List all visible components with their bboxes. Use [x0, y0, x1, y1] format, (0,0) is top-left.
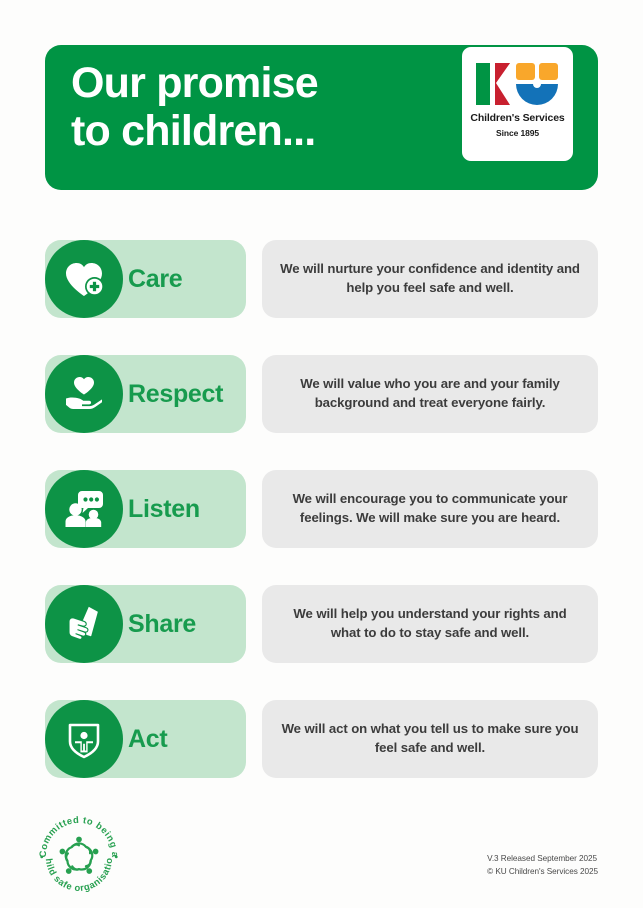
promise-description-text: We will help you understand your rights …: [280, 605, 580, 642]
promise-pill-care: Care: [45, 240, 246, 318]
promise-description-act: We will act on what you tell us to make …: [262, 700, 598, 778]
shield-person-icon: [45, 700, 123, 778]
badge-text-top: Committed to being a: [38, 815, 120, 858]
promise-description-text: We will value who you are and your famil…: [280, 375, 580, 412]
promise-list: Care We will nurture your confidence and…: [45, 240, 598, 815]
promise-description-share: We will help you understand your rights …: [262, 585, 598, 663]
promise-row-listen: Listen We will encourage you to communic…: [45, 470, 598, 548]
promise-description-text: We will encourage you to communicate you…: [280, 490, 580, 527]
people-speech-bubble-icon: [45, 470, 123, 548]
promise-label-share: Share: [128, 585, 196, 663]
promise-description-care: We will nurture your confidence and iden…: [262, 240, 598, 318]
hand-holding-heart-icon: [45, 355, 123, 433]
child-safe-badge-icon: Committed to being a Child safe organisa…: [33, 810, 125, 902]
promise-description-text: We will act on what you tell us to make …: [280, 720, 580, 757]
ku-logo-mark: [476, 63, 560, 105]
promise-pill-act: Act: [45, 700, 246, 778]
ku-logo-card: Children's Services Since 1895: [462, 47, 573, 161]
svg-text:Committed to being a: Committed to being a: [38, 815, 120, 858]
promise-row-act: Act We will act on what you tell us to m…: [45, 700, 598, 778]
promise-row-share: Share We will help you understand your r…: [45, 585, 598, 663]
promise-label-care: Care: [128, 240, 182, 318]
hand-holding-paper-icon: [45, 585, 123, 663]
logo-name: Children's Services: [470, 113, 564, 124]
promise-pill-respect: Respect: [45, 355, 246, 433]
version-line: V.3 Released September 2025: [487, 853, 598, 866]
page-title: Our promise to children...: [71, 59, 471, 155]
promise-label-act: Act: [128, 700, 167, 778]
promise-label-respect: Respect: [128, 355, 223, 433]
promise-pill-listen: Listen: [45, 470, 246, 548]
heart-plus-icon: [45, 240, 123, 318]
header-banner: Our promise to children... Children's Se…: [45, 45, 598, 190]
child-safe-badge: Committed to being a Child safe organisa…: [33, 810, 125, 902]
footer-credits: V.3 Released September 2025 © KU Childre…: [487, 853, 598, 878]
promise-pill-share: Share: [45, 585, 246, 663]
promise-description-respect: We will value who you are and your famil…: [262, 355, 598, 433]
promise-row-care: Care We will nurture your confidence and…: [45, 240, 598, 318]
promise-label-listen: Listen: [128, 470, 200, 548]
promise-description-listen: We will encourage you to communicate you…: [262, 470, 598, 548]
promise-description-text: We will nurture your confidence and iden…: [280, 260, 580, 297]
copyright-line: © KU Children's Services 2025: [487, 866, 598, 879]
logo-since: Since 1895: [496, 129, 539, 138]
promise-row-respect: Respect We will value who you are and yo…: [45, 355, 598, 433]
